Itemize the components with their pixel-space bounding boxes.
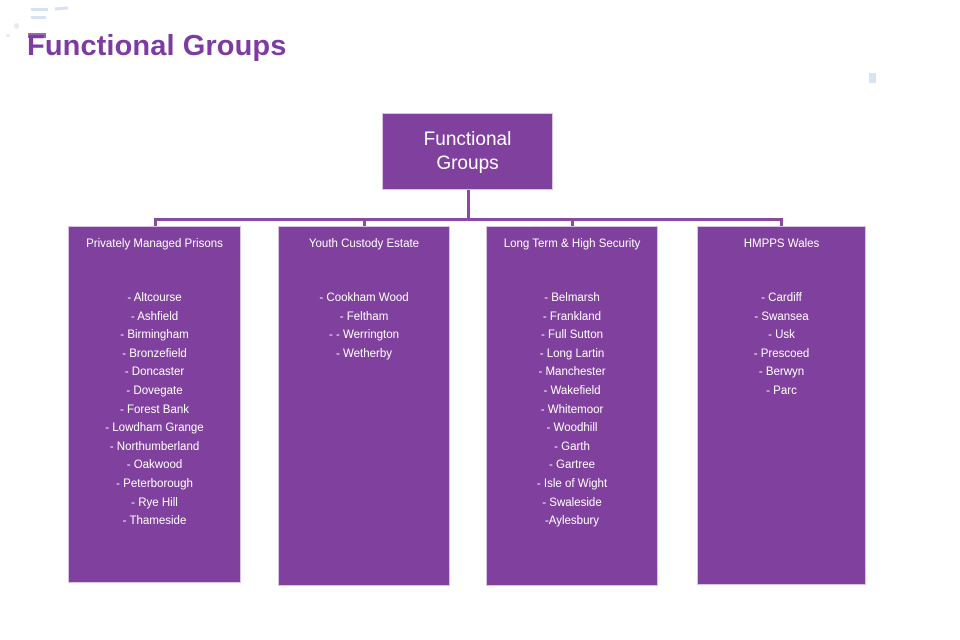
- group-item: - Doncaster: [69, 363, 240, 382]
- group-item-list: - Altcourse- Ashfield- Birmingham- Bronz…: [69, 289, 240, 531]
- connector-horizontal-bus: [154, 218, 781, 221]
- group-header: Privately Managed Prisons: [69, 237, 240, 251]
- group-node-long-term-and-high-security: Long Term & High Security - Belmarsh- Fr…: [486, 226, 658, 586]
- group-item: - Wakefield: [487, 382, 657, 401]
- group-item: - Northumberland: [69, 438, 240, 457]
- group-item: - Birmingham: [69, 326, 240, 345]
- connector-root-stem: [467, 190, 470, 220]
- group-node-privately-managed-prisons: Privately Managed Prisons - Altcourse- A…: [68, 226, 241, 583]
- group-item: - Wetherby: [279, 345, 449, 364]
- group-item: -Aylesbury: [487, 512, 657, 531]
- group-item: - Thameside: [69, 512, 240, 531]
- group-node-hmpps-wales: HMPPS Wales - Cardiff- Swansea- Usk- Pre…: [697, 226, 866, 585]
- group-node-youth-custody-estate: Youth Custody Estate - Cookham Wood- Fel…: [278, 226, 450, 586]
- group-item: - - Werrington: [279, 326, 449, 345]
- group-item: - Bronzefield: [69, 345, 240, 364]
- group-header: HMPPS Wales: [698, 237, 865, 251]
- root-node-label: Functional Groups: [424, 128, 512, 176]
- group-item: - Forest Bank: [69, 401, 240, 420]
- group-item: - Usk: [698, 326, 865, 345]
- group-item-list: - Belmarsh- Frankland- Full Sutton- Long…: [487, 289, 657, 531]
- group-item: - Feltham: [279, 308, 449, 327]
- group-header: Long Term & High Security: [487, 237, 657, 251]
- group-item: - Woodhill: [487, 419, 657, 438]
- group-item: - Lowdham Grange: [69, 419, 240, 438]
- group-header: Youth Custody Estate: [279, 237, 449, 251]
- group-item: - Dovegate: [69, 382, 240, 401]
- group-item: - Manchester: [487, 363, 657, 382]
- group-item: - Parc: [698, 382, 865, 401]
- group-item: - Swaleside: [487, 494, 657, 513]
- group-item: - Prescoed: [698, 345, 865, 364]
- group-item: - Full Sutton: [487, 326, 657, 345]
- group-item-list: - Cookham Wood- Feltham- - Werrington- W…: [279, 289, 449, 363]
- group-item: - Cardiff: [698, 289, 865, 308]
- group-item: - Gartree: [487, 456, 657, 475]
- group-item: - Long Lartin: [487, 345, 657, 364]
- group-item: - Garth: [487, 438, 657, 457]
- root-node-functional-groups: Functional Groups: [382, 113, 553, 190]
- group-item: - Berwyn: [698, 363, 865, 382]
- group-item: - Belmarsh: [487, 289, 657, 308]
- group-item: - Peterborough: [69, 475, 240, 494]
- group-item: - Swansea: [698, 308, 865, 327]
- group-item: - Frankland: [487, 308, 657, 327]
- group-item: - Cookham Wood: [279, 289, 449, 308]
- group-item: - Whitemoor: [487, 401, 657, 420]
- group-item: - Ashfield: [69, 308, 240, 327]
- org-chart: Functional Groups Privately Managed Pris…: [0, 0, 960, 640]
- group-item: - Rye Hill: [69, 494, 240, 513]
- group-item-list: - Cardiff- Swansea- Usk- Prescoed- Berwy…: [698, 289, 865, 401]
- group-item: - Isle of Wight: [487, 475, 657, 494]
- group-item: - Oakwood: [69, 456, 240, 475]
- group-item: - Altcourse: [69, 289, 240, 308]
